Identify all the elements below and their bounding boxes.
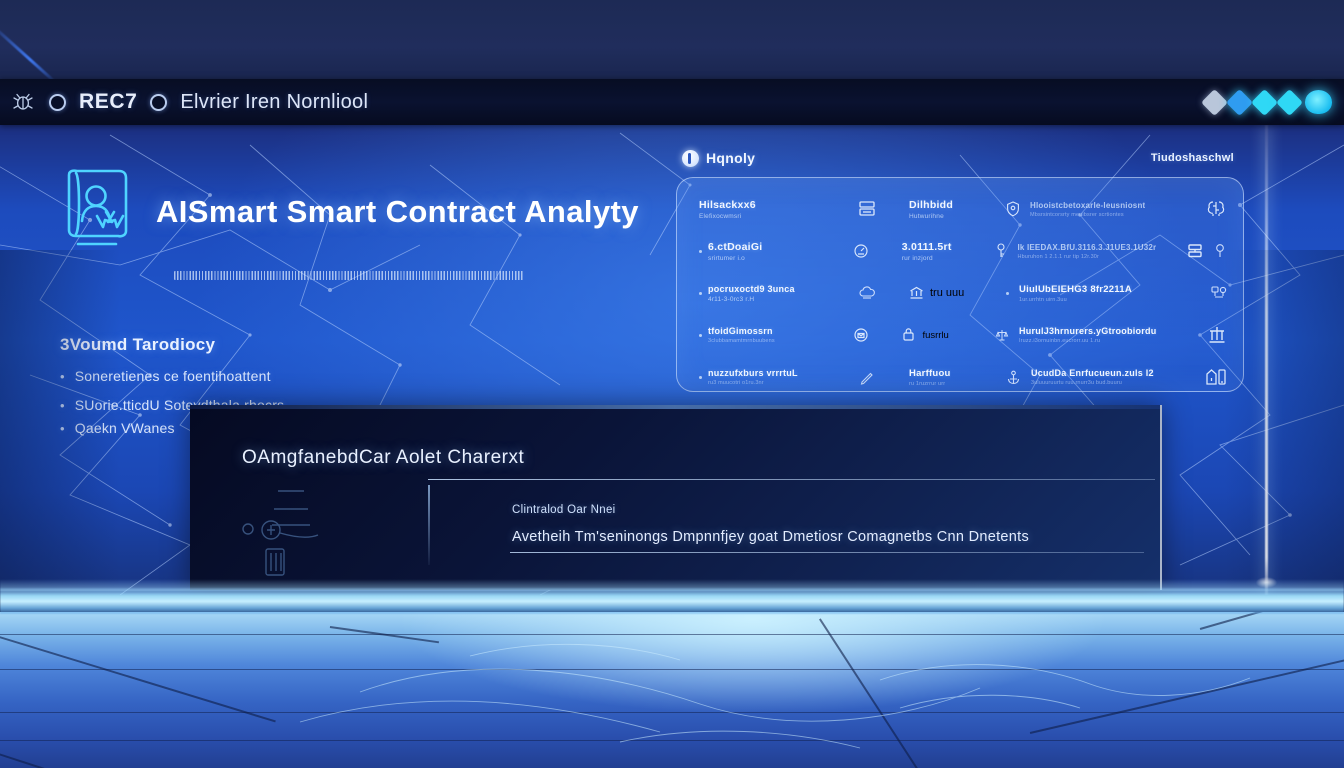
list-item-label: Qaekn VWanes: [75, 420, 175, 436]
right-panel-header: Hqnoly Tiudoshaschwl: [676, 147, 1244, 169]
server-stack-icon: [1185, 241, 1205, 261]
row-icon-cell: [831, 326, 891, 344]
header-status-gems: [1205, 90, 1344, 114]
row-mid-title: Harffuou: [909, 368, 951, 379]
row-mid-cell: Dilhbidd Hutwurihne: [909, 199, 995, 220]
row-mid-subtitle: rur inzjord: [902, 255, 952, 262]
panel-top-edge-glow: [190, 405, 1160, 409]
row-primary-cell: tfoidGimossrn 3clubbamamtmrnbuubens: [699, 326, 820, 344]
light-column-right: [1265, 125, 1268, 595]
row-mid-cell: fusrrlu: [901, 327, 984, 343]
hero-heading-row: AISmart Smart Contract Analyty: [56, 165, 656, 255]
row-end-icon-cell: [1165, 367, 1227, 387]
certificate-person-icon: [56, 165, 138, 255]
floor-surface: [0, 612, 1344, 768]
row-desc-sub: Mbsrsintcorsrty meuibsrer scrtiontes: [1030, 212, 1145, 218]
table-row[interactable]: nuzzufxburs vrrrtuL ru3 muucotri o1ru.3n…: [699, 356, 1227, 392]
row-desc-sub: 3uluuuruurtu ruu.rnurr3u bud.buuru: [1031, 380, 1154, 386]
row-end-icon-cell: [1165, 198, 1227, 220]
row-bullet-dot-icon: [699, 334, 702, 337]
row-icon-cell: [836, 369, 898, 385]
page-title: AISmart Smart Contract Analyty: [156, 190, 639, 230]
gem-cyan-icon-1[interactable]: [1251, 89, 1278, 116]
gem-wave-icon[interactable]: [1305, 90, 1332, 114]
row-desc-cell: UcudDa Enrfucueun.zuls l2 3uluuuruurtu r…: [1006, 368, 1154, 386]
brain-chip-icon: [1205, 198, 1227, 220]
panel-line-small: Clintralod Oar Nnei: [512, 504, 616, 516]
row-title: Hilsackxx6: [699, 199, 756, 211]
row-mid-cell: Harffuou ru 1ruzrrur urr: [909, 368, 995, 387]
row-mid-title: tru uuu: [930, 287, 964, 299]
header-subtitle: Elvrier Iren Nornliool: [180, 91, 368, 114]
row-subtitle: 3clubbamamtmrnbuubens: [708, 338, 775, 344]
gauge-icon: [852, 242, 870, 260]
row-subtitle: ru3 muucotri o1ru.3nr: [708, 380, 798, 386]
table-row[interactable]: 6.ctDoaiGi srirtumer i.o 3.0111.5rt: [699, 230, 1227, 272]
list-item[interactable]: • Soneretienes ce foentihoattent: [60, 368, 656, 384]
row-mid-subtitle: ru 1ruzrrur urr: [909, 381, 951, 387]
header-left-group: REC7 Elvrier Iren Nornliool: [0, 90, 368, 114]
panel-title: OAmgfanebdCar Aolet Charerxt: [242, 447, 524, 469]
row-end-icon-cell: [1168, 325, 1228, 345]
row-primary-cell: pocruxoctd9 3unca 4r11-3-0rc3 r.H: [699, 284, 825, 303]
row-primary-cell: 6.ctDoaiGi srirtumer i.o: [699, 241, 820, 262]
glyph-cluster-decoration: [238, 483, 343, 578]
brand-title: REC7: [79, 90, 137, 114]
row-icon-cell: [831, 242, 891, 260]
row-desc-cell: Ik IEEDAX.BfU.3116.3.J1UE3.1U32r Hburuho…: [995, 243, 1156, 260]
row-mid-cell: tru uuu: [909, 286, 995, 300]
row-desc-sub: 1ur.urrhtn uirn.3uu: [1019, 297, 1132, 303]
top-void-band: [0, 0, 1344, 79]
row-subtitle: Elefixocwmsri: [699, 213, 756, 220]
lower-detail-panel: OAmgfanebdCar Aolet Charerxt Clintralod …: [190, 405, 1162, 590]
panel-accent-bar: [428, 485, 430, 565]
shield-lock-icon: [1006, 201, 1020, 217]
row-primary-cell: Hilsackxx6 Elefixocwmsri: [699, 199, 825, 220]
cloud-sync-icon: [858, 285, 876, 301]
row-desc-sub: Hburuhon 1 2.1.1 rur tip 12r.30r: [1017, 254, 1156, 260]
bullet-dot-icon: •: [60, 370, 65, 383]
row-icon-cell: [836, 285, 898, 301]
hero-microtext-line: [174, 271, 524, 280]
app-header-bar: REC7 Elvrier Iren Nornliool: [0, 79, 1344, 125]
row-subtitle: srirtumer i.o: [708, 255, 762, 262]
door-doc-icon: [1205, 367, 1227, 387]
row-bullet-dot-icon: [699, 376, 702, 379]
circle-bullet-icon-2: [150, 94, 167, 111]
row-end-icon-cell: [1167, 241, 1227, 261]
panel-line-large: Avetheih Tm'seninongs Dmpnnfjey goat Dme…: [512, 529, 1029, 545]
row-desc: Hlooistcbetoxarle-leusniosnt: [1030, 201, 1145, 210]
gem-cyan-icon-2[interactable]: [1276, 89, 1303, 116]
key-icon: [995, 243, 1007, 259]
bullet-dot-icon: •: [60, 422, 65, 435]
temple-icon: [1207, 325, 1227, 345]
hero-section: AISmart Smart Contract Analyty 3Voumd Ta…: [56, 165, 656, 436]
gem-blue-icon[interactable]: [1226, 89, 1253, 116]
row-bullet-dot-icon: [1006, 292, 1009, 295]
gem-dim-icon[interactable]: [1201, 89, 1228, 116]
right-panel-label: Hqnoly: [706, 150, 755, 166]
floor-horizon-glow: [0, 588, 1344, 614]
row-desc: UiuIUbEIEHG3 8fr2211A: [1019, 284, 1132, 295]
row-desc: UcudDa Enrfucueun.zuls l2: [1031, 368, 1154, 378]
scene-stage: REC7 Elvrier Iren Nornliool: [0, 0, 1344, 768]
row-mid-subtitle: Hutwurihne: [909, 213, 953, 220]
row-mid-title: fusrrlu: [922, 330, 948, 341]
row-icon-cell: [836, 199, 898, 219]
row-title: pocruxoctd9 3unca: [708, 284, 795, 294]
row-title: 6.ctDoaiGi: [708, 241, 762, 253]
lock-badge-icon: [901, 327, 916, 343]
decorative-diagonal-streak: [0, 22, 58, 84]
circle-bullet-icon: [49, 94, 66, 111]
row-bullet-dot-icon: [699, 292, 702, 295]
row-mid-cell: 3.0111.5rt rur inzjord: [902, 241, 985, 262]
bug-shield-icon[interactable]: [12, 91, 36, 113]
row-bullet-dot-icon: [699, 250, 702, 253]
table-row[interactable]: tfoidGimossrn 3clubbamamtmrnbuubens: [699, 314, 1227, 356]
row-desc: HurulJ3hrnurers.yGtroobiordu: [1019, 326, 1157, 336]
bank-icon: [909, 286, 924, 300]
row-primary-cell: nuzzufxburs vrrrtuL ru3 muucotri o1ru.3n…: [699, 368, 825, 386]
row-desc-cell: UiuIUbEIEHG3 8fr2211A 1ur.urrhtn uirn.3u…: [1006, 284, 1154, 303]
row-mid-title: Dilhbidd: [909, 199, 953, 211]
right-info-panel: Hqnoly Tiudoshaschwl Hilsackxx6 Elefixoc…: [676, 147, 1244, 397]
table-row[interactable]: pocruxoctd9 3unca 4r11-3-0rc3 r.H: [699, 272, 1227, 314]
list-item-label: Soneretienes ce foentihoattent: [75, 368, 271, 384]
row-end-icon-cell: [1165, 285, 1227, 301]
table-row[interactable]: Hilsackxx6 Elefixocwmsri Di: [699, 188, 1227, 230]
row-title: tfoidGimossrn: [708, 326, 775, 336]
panel-divider-bottom: [510, 552, 1144, 553]
right-panel-secondary-label: Tiudoshaschwl: [1151, 152, 1234, 164]
panel-divider-top: [428, 479, 1155, 480]
row-mid-title: 3.0111.5rt: [902, 241, 952, 253]
bullet-dot-icon: •: [60, 399, 65, 412]
scale-icon: [995, 328, 1009, 342]
row-desc-sub: Iruzz.i3ornuinbn.eucrorr.uu 1.ru: [1019, 338, 1157, 344]
row-subtitle: 4r11-3-0rc3 r.H: [708, 296, 795, 303]
row-desc-cell: HurulJ3hrnurers.yGtroobiordu Iruzz.i3orn…: [995, 326, 1157, 344]
pen-icon: [859, 369, 875, 385]
mail-circle-icon: [852, 326, 870, 344]
info-circle-icon: [682, 150, 699, 167]
bullet-block-heading: 3Voumd Tarodiocy: [60, 335, 656, 355]
anchor-icon: [1006, 370, 1021, 385]
server-rack-icon: [857, 199, 877, 219]
network-icon: [1210, 285, 1227, 301]
floor-light-trails-decoration: [0, 612, 1344, 768]
right-panel-card: Hilsackxx6 Elefixocwmsri Di: [676, 177, 1244, 392]
row-desc: Ik IEEDAX.BfU.3116.3.J1UE3.1U32r: [1017, 243, 1156, 252]
row-desc-cell: Hlooistcbetoxarle-leusniosnt Mbsrsintcor…: [1006, 201, 1154, 218]
row-title: nuzzufxburs vrrrtuL: [708, 368, 798, 378]
magnify-icon: [1213, 243, 1227, 259]
